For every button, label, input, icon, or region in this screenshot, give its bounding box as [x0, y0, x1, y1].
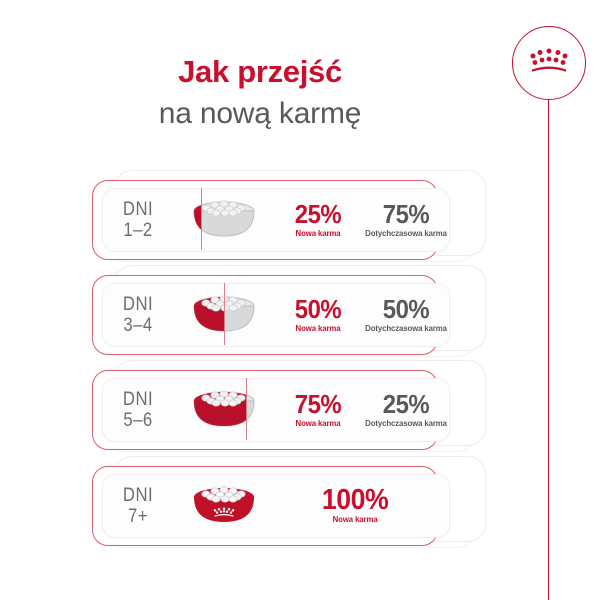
page-title: Jak przejść na nową karmę: [0, 52, 520, 136]
percentages: 75% Nowa karma 25% Dotychczasowa karma: [274, 378, 450, 442]
new-food-percent: 25%: [278, 200, 359, 228]
days-label-group: DNI 3–4: [106, 294, 169, 336]
days-word: DNI: [106, 389, 169, 410]
percentages: 100% Nowa karma: [274, 474, 450, 538]
days-range: 1–2: [106, 220, 169, 241]
infographic-page: Jak przejść na nową karmę DNI 1–2: [0, 0, 600, 600]
days-label-group: DNI 5–6: [106, 389, 169, 431]
new-food-percent: 100%: [322, 486, 388, 514]
row-content: DNI 7+: [102, 474, 450, 538]
new-food-label: Nowa karma: [276, 228, 360, 240]
new-food-stat: 25% Nowa karma: [274, 200, 362, 240]
old-food-stat: 75% Dotychczasowa karma: [362, 200, 450, 240]
title-line-2: na nową karmę: [0, 92, 520, 136]
new-food-stat: 100% Nowa karma: [319, 486, 391, 526]
new-food-label: Nowa karma: [276, 418, 360, 430]
new-food-label: Nowa karma: [321, 514, 390, 526]
days-label-group: DNI 7+: [106, 485, 169, 527]
new-food-stat: 50% Nowa karma: [274, 295, 362, 335]
days-word: DNI: [106, 485, 169, 506]
row-content: DNI 5–6: [102, 378, 450, 442]
percentages: 25% Nowa karma 75% Dotychczasowa karma: [274, 188, 450, 252]
bowl-divider: [224, 283, 225, 345]
royal-canin-crown-icon: [528, 46, 570, 76]
dog-bowl-25-percent-icon: [174, 188, 274, 252]
brand-mark: [512, 26, 592, 106]
new-food-percent: 50%: [278, 295, 359, 323]
transition-row: DNI 3–4: [92, 275, 464, 361]
bowl-divider: [201, 188, 202, 250]
days-label-group: DNI 1–2: [106, 199, 169, 241]
dog-bowl-50-percent-icon: [174, 283, 274, 347]
title-line-1: Jak przejść: [0, 52, 520, 92]
row-content: DNI 3–4: [102, 283, 450, 347]
days-word: DNI: [106, 199, 169, 220]
old-food-percent: 75%: [366, 200, 447, 228]
new-food-label: Nowa karma: [276, 323, 360, 335]
bowl-divider: [246, 378, 247, 440]
new-food-percent: 75%: [278, 390, 359, 418]
old-food-label: Dotychczasowa karma: [364, 418, 448, 430]
old-food-stat: 25% Dotychczasowa karma: [362, 390, 450, 430]
dog-bowl-75-percent-icon: [174, 378, 274, 442]
days-range: 5–6: [106, 410, 169, 431]
days-word: DNI: [106, 294, 169, 315]
days-range: 3–4: [106, 315, 169, 336]
old-food-label: Dotychczasowa karma: [364, 323, 448, 335]
brand-vertical-line: [548, 100, 549, 600]
old-food-percent: 25%: [366, 390, 447, 418]
row-content: DNI 1–2: [102, 188, 450, 252]
days-range: 7+: [106, 506, 169, 527]
transition-row: DNI 1–2: [92, 180, 464, 266]
new-food-stat: 75% Nowa karma: [274, 390, 362, 430]
old-food-percent: 50%: [366, 295, 447, 323]
percentages: 50% Nowa karma 50% Dotychczasowa karma: [274, 283, 450, 347]
transition-row: DNI 5–6: [92, 370, 464, 456]
old-food-label: Dotychczasowa karma: [364, 228, 448, 240]
dog-bowl-100-percent-icon: [174, 474, 274, 538]
old-food-stat: 50% Dotychczasowa karma: [362, 295, 450, 335]
transition-row: DNI 7+: [92, 466, 464, 552]
